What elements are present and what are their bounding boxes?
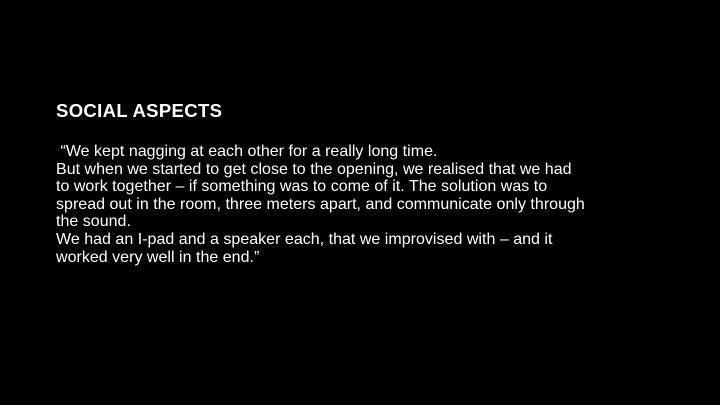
quote-line: to work together – if something was to c… xyxy=(56,178,676,196)
slide-canvas: SOCIAL ASPECTS “We kept nagging at each … xyxy=(0,0,720,405)
quote-line: the sound. xyxy=(56,213,676,231)
quote-line: But when we started to get close to the … xyxy=(56,161,676,179)
quote-line: “We kept nagging at each other for a rea… xyxy=(56,143,676,161)
quote-line: worked very well in the end.” xyxy=(56,249,676,267)
quote-line: We had an I-pad and a speaker each, that… xyxy=(56,231,676,249)
quote-line: spread out in the room, three meters apa… xyxy=(56,196,676,214)
page-title: SOCIAL ASPECTS xyxy=(56,101,222,121)
quote-block: “We kept nagging at each other for a rea… xyxy=(56,143,676,266)
